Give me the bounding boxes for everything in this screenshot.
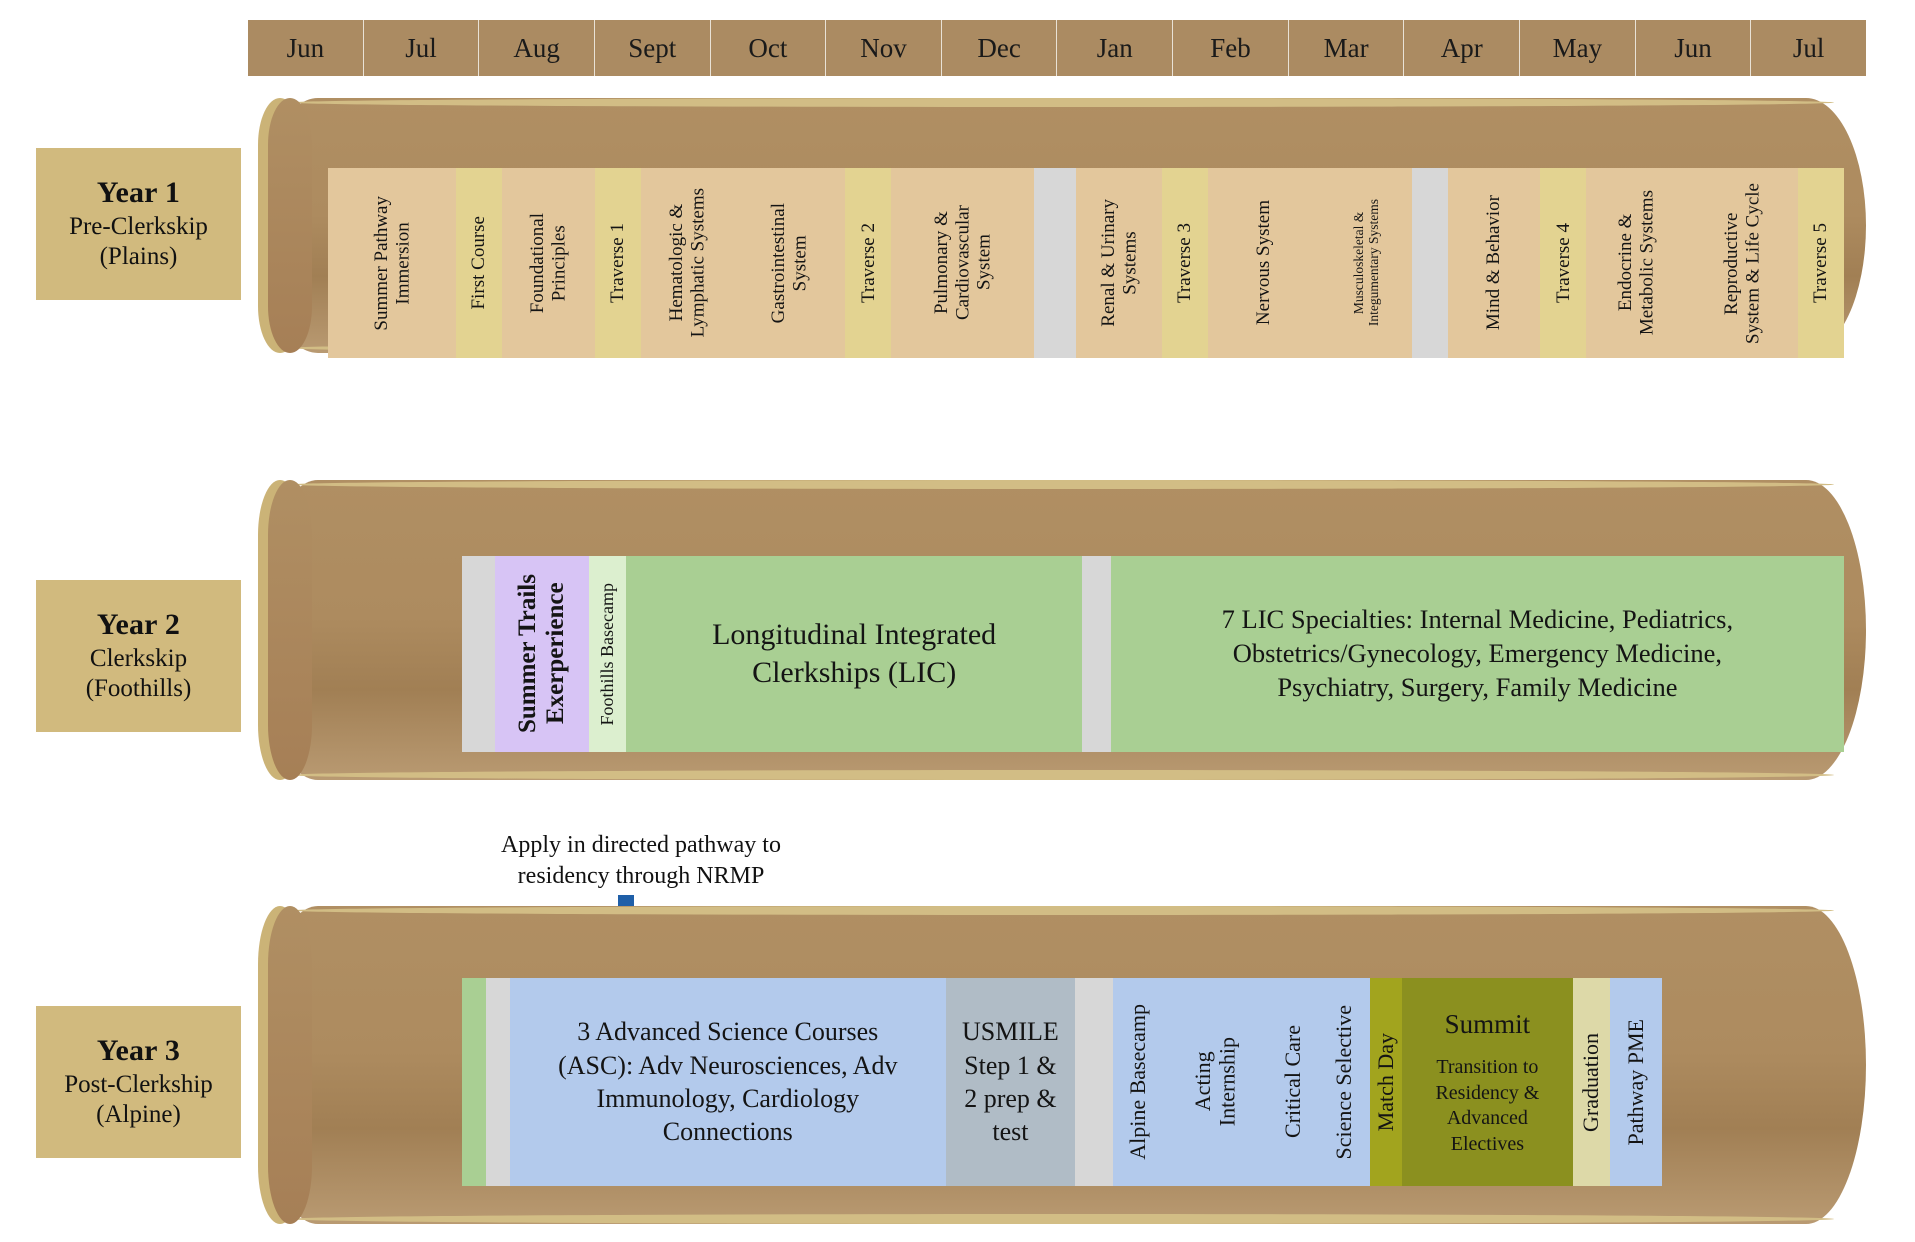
month-header-bar: JunJulAugSeptOctNovDecJanFebMarAprMayJun… [248,20,1866,76]
segment-science-selective-label: Science Selective [1332,1005,1357,1160]
segment-summit-label: Transition to Residency & Advanced Elect… [1435,1056,1539,1155]
segment-pathway-pme-label: Pathway PME [1624,1019,1649,1146]
segment-advanced-science-courses-label: 3 Advanced Science Courses (ASC): Adv Ne… [558,1015,897,1148]
year-2-ribbon-left-inner [268,480,312,780]
month-cell-nov-5: Nov [826,20,942,76]
segment-longitudinal-integrated-clerkships[interactable]: Longitudinal Integrated Clerkships (LIC) [626,556,1081,752]
segment-nervous-system[interactable]: Nervous System [1208,168,1320,358]
segment-winter-break[interactable] [1034,168,1077,358]
segment-hematologic-lymphatic-systems[interactable]: Hematologic & Lymphatic Systems [641,168,733,358]
segment-traverse-3-label: Traverse 3 [1174,223,1195,303]
year-2-label-box: Year 2 Clerkskip (Foothills) [36,580,241,732]
year-2-subtitle: Clerkskip [90,644,187,675]
segment-reproductive-system-life-cycle[interactable]: Reproductive System & Life Cycle [1686,168,1798,358]
month-cell-jun-12: Jun [1636,20,1752,76]
segment-nervous-system-label: Nervous System [1253,200,1274,325]
year-3-segments: 3 Advanced Science Courses (ASC): Adv Ne… [462,978,1662,1186]
segment-alpine-basecamp-label: Alpine Basecamp [1126,1004,1151,1160]
segment-longitudinal-integrated-clerkships-label: Longitudinal Integrated Clerkships (LIC) [712,616,996,693]
segment-graduation[interactable]: Graduation [1573,978,1611,1186]
year-3-region: (Alpine) [96,1100,181,1131]
segment-summer-pathway-immersion-label: Summer Pathway Immersion [371,196,414,331]
month-cell-apr-10: Apr [1404,20,1520,76]
segment-foundational-principles[interactable]: Foundational Principles [502,168,594,358]
month-cell-oct-4: Oct [711,20,827,76]
segment-spring-break[interactable] [1412,168,1448,358]
segment-summer-pathway-immersion[interactable]: Summer Pathway Immersion [328,168,456,358]
month-cell-jul-1: Jul [364,20,480,76]
year-2-region: (Foothills) [86,674,192,705]
segment-usmile-step-prep-test[interactable]: USMILE Step 1 & 2 prep & test [946,978,1075,1186]
segment-endocrine-metabolic-systems[interactable]: Endocrine & Metabolic Systems [1586,168,1686,358]
segment-post-step-break[interactable] [1075,978,1113,1186]
segment-acting-internship-label: Acting Internship [1191,1037,1240,1126]
segment-musculoskeletal-integumentary-systems-label: Musculoskeletal & Integumentary Systems [1351,199,1381,326]
month-cell-sept-3: Sept [595,20,711,76]
year-1-ribbon-top-highlight [290,98,1834,107]
year-1-title: Year 1 [97,175,180,212]
month-cell-aug-2: Aug [479,20,595,76]
segment-first-course[interactable]: First Course [456,168,502,358]
segment-match-day[interactable]: Match Day [1370,978,1402,1186]
segment-traverse-3[interactable]: Traverse 3 [1162,168,1208,358]
year-1-region: (Plains) [100,242,178,273]
segment-lic-specialties-label: 7 LIC Specialties: Internal Medicine, Pe… [1222,603,1733,705]
segment-traverse-4[interactable]: Traverse 4 [1540,168,1586,358]
year-3-ribbon-left-inner [268,906,312,1224]
year-1-ribbon-left-inner [268,98,312,353]
segment-traverse-5[interactable]: Traverse 5 [1798,168,1844,358]
segment-musculoskeletal-integumentary-systems[interactable]: Musculoskeletal & Integumentary Systems [1320,168,1412,358]
segment-traverse-2-label: Traverse 2 [858,223,879,303]
segment-advanced-science-courses[interactable]: 3 Advanced Science Courses (ASC): Adv Ne… [510,978,946,1186]
year-3-label-box: Year 3 Post-Clerkship (Alpine) [36,1006,241,1158]
segment-mind-behavior-label: Mind & Behavior [1483,195,1504,330]
segment-foothills-basecamp[interactable]: Foothills Basecamp [589,556,627,752]
segment-endocrine-metabolic-systems-label: Endocrine & Metabolic Systems [1615,190,1658,335]
segment-pulmonary-cardiovascular-system[interactable]: Pulmonary & Cardiovascular System [891,168,1033,358]
month-cell-feb-8: Feb [1173,20,1289,76]
segment-renal-urinary-systems[interactable]: Renal & Urinary Systems [1076,168,1161,358]
segment-traverse-5-label: Traverse 5 [1810,223,1831,303]
nrmp-annotation-text: Apply in directed pathway to residency t… [476,830,806,892]
segment-reproductive-system-life-cycle-label: Reproductive System & Life Cycle [1721,183,1764,344]
segment-renal-urinary-systems-label: Renal & Urinary Systems [1098,199,1141,327]
month-cell-jan-7: Jan [1057,20,1173,76]
segment-graduation-label: Graduation [1579,1033,1604,1132]
segment-foothills-basecamp-label: Foothills Basecamp [597,583,617,726]
segment-traverse-1-label: Traverse 1 [607,223,628,303]
segment-summit[interactable]: SummitTransition to Residency & Advanced… [1402,978,1573,1186]
year-3-subtitle: Post-Clerkship [64,1070,213,1101]
segment-match-day-label: Match Day [1374,1033,1399,1131]
segment-critical-care[interactable]: Critical Care [1267,978,1319,1186]
segment-gastrointestinal-system[interactable]: Gastrointestinal System [733,168,845,358]
segment-summer-trails-exerperience-label: Summer Trails Exerperience [514,574,570,733]
year-1-subtitle: Pre-Clerkskip [69,212,208,243]
year-1-label-box: Year 1 Pre-Clerkskip (Plains) [36,148,241,300]
segment-mind-behavior[interactable]: Mind & Behavior [1448,168,1540,358]
segment-usmile-step-prep-test-label: USMILE Step 1 & 2 prep & test [962,1015,1059,1148]
segment-year2-break[interactable] [462,556,495,752]
segment-traverse-2[interactable]: Traverse 2 [845,168,891,358]
segment-year3-green-start[interactable] [462,978,486,1186]
year-2-title: Year 2 [97,607,180,644]
year-3-ribbon-bottom-highlight [290,1214,1834,1224]
segment-science-selective[interactable]: Science Selective [1319,978,1371,1186]
curriculum-timeline-diagram: JunJulAugSeptOctNovDecJanFebMarAprMayJun… [0,0,1915,1242]
segment-summer-trails-exerperience[interactable]: Summer Trails Exerperience [495,556,588,752]
segment-summit-title: Summit [1435,1007,1539,1042]
month-cell-jun-0: Jun [248,20,364,76]
month-cell-jul-13: Jul [1751,20,1866,76]
segment-pulmonary-cardiovascular-system-label: Pulmonary & Cardiovascular System [931,205,995,320]
month-cell-mar-9: Mar [1289,20,1405,76]
segment-mid-year-break[interactable] [1082,556,1111,752]
year-2-ribbon-top-highlight [290,480,1834,489]
segment-critical-care-label: Critical Care [1281,1025,1306,1138]
segment-lic-specialties[interactable]: 7 LIC Specialties: Internal Medicine, Pe… [1111,556,1844,752]
month-cell-may-11: May [1520,20,1636,76]
year-2-segments: Summer Trails ExerperienceFoothills Base… [462,556,1844,752]
year-3-ribbon-top-highlight [290,906,1834,915]
year-1-segments: Summer Pathway ImmersionFirst CourseFoun… [328,168,1844,358]
segment-foundational-principles-label: Foundational Principles [527,213,570,313]
segment-traverse-1[interactable]: Traverse 1 [595,168,641,358]
month-cell-dec-6: Dec [942,20,1058,76]
segment-year3-break-start[interactable] [486,978,510,1186]
segment-hematologic-lymphatic-systems-label: Hematologic & Lymphatic Systems [666,188,709,337]
segment-acting-internship[interactable]: Acting Internship [1164,978,1267,1186]
segment-pathway-pme[interactable]: Pathway PME [1610,978,1662,1186]
year-2-ribbon-bottom-highlight [290,770,1834,780]
segment-first-course-label: First Course [468,216,489,309]
segment-alpine-basecamp[interactable]: Alpine Basecamp [1113,978,1165,1186]
year-3-title: Year 3 [97,1033,180,1070]
segment-traverse-4-label: Traverse 4 [1553,223,1574,303]
segment-gastrointestinal-system-label: Gastrointestinal System [768,203,811,323]
